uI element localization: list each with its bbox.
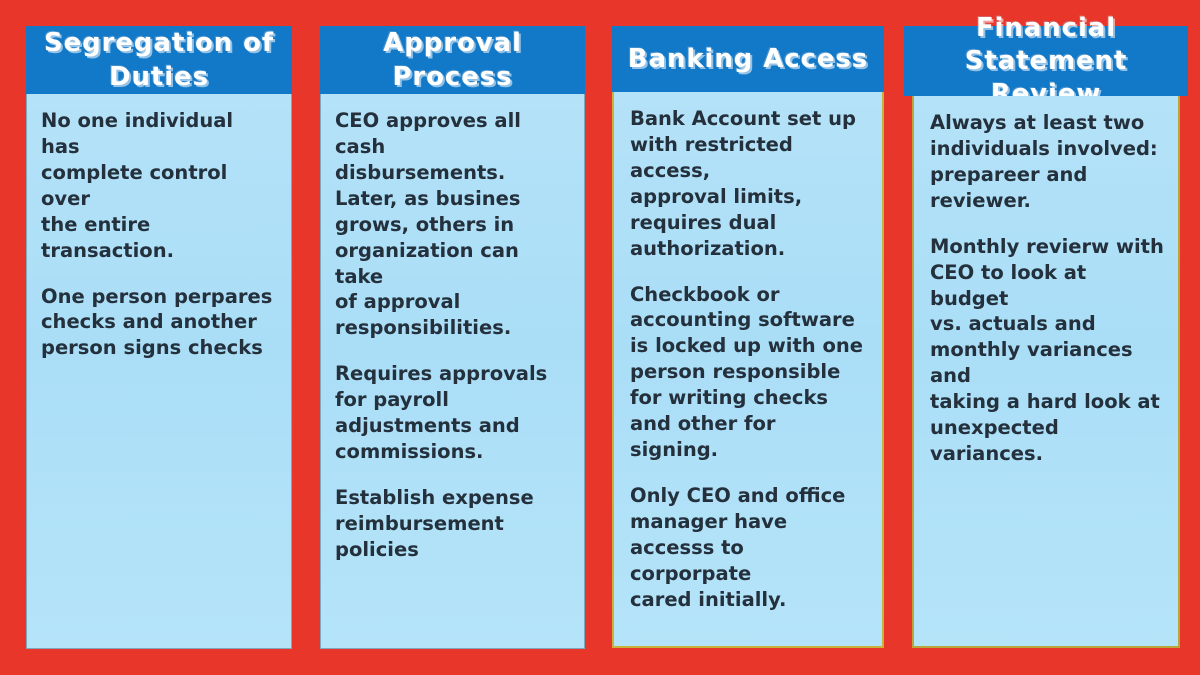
card-financial-statement-review: Financial Statement Review Always at lea… [908,26,1184,648]
card-title-banking-access: Banking Access [612,26,884,92]
card-paragraph: Always at least two individuals involved… [930,110,1164,214]
card-paragraph: No one individual has complete control o… [41,108,277,264]
infographic-board: Segregation of Duties No one individual … [0,0,1200,675]
card-paragraph: One person perpares checks and another p… [41,284,277,362]
card-approval-process: Approval Process CEO approves all cash d… [320,26,585,649]
card-paragraph: CEO approves all cash disbursements. Lat… [335,108,570,341]
card-body-segregation-of-duties: No one individual has complete control o… [26,94,292,649]
card-body-approval-process: CEO approves all cash disbursements. Lat… [320,94,585,649]
card-paragraph: Requires approvals for payroll adjustmen… [335,361,570,465]
card-paragraph: Only CEO and office manager have accesss… [630,483,868,613]
card-paragraph: Bank Account set up with restricted acce… [630,106,868,262]
card-paragraph: Monthly revierw with CEO to look at budg… [930,234,1164,467]
card-title-financial-statement-review: Financial Statement Review [904,26,1188,96]
card-paragraph: Checkbook or accounting software is lock… [630,282,868,463]
card-segregation-of-duties: Segregation of Duties No one individual … [26,26,292,649]
card-title-segregation-of-duties: Segregation of Duties [26,26,292,94]
card-body-financial-statement-review: Always at least two individuals involved… [912,96,1180,648]
card-body-banking-access: Bank Account set up with restricted acce… [612,92,884,648]
card-title-approval-process: Approval Process [320,26,585,94]
card-banking-access: Banking Access Bank Account set up with … [612,26,884,648]
card-paragraph: Establish expense reimbursement policies [335,485,570,563]
